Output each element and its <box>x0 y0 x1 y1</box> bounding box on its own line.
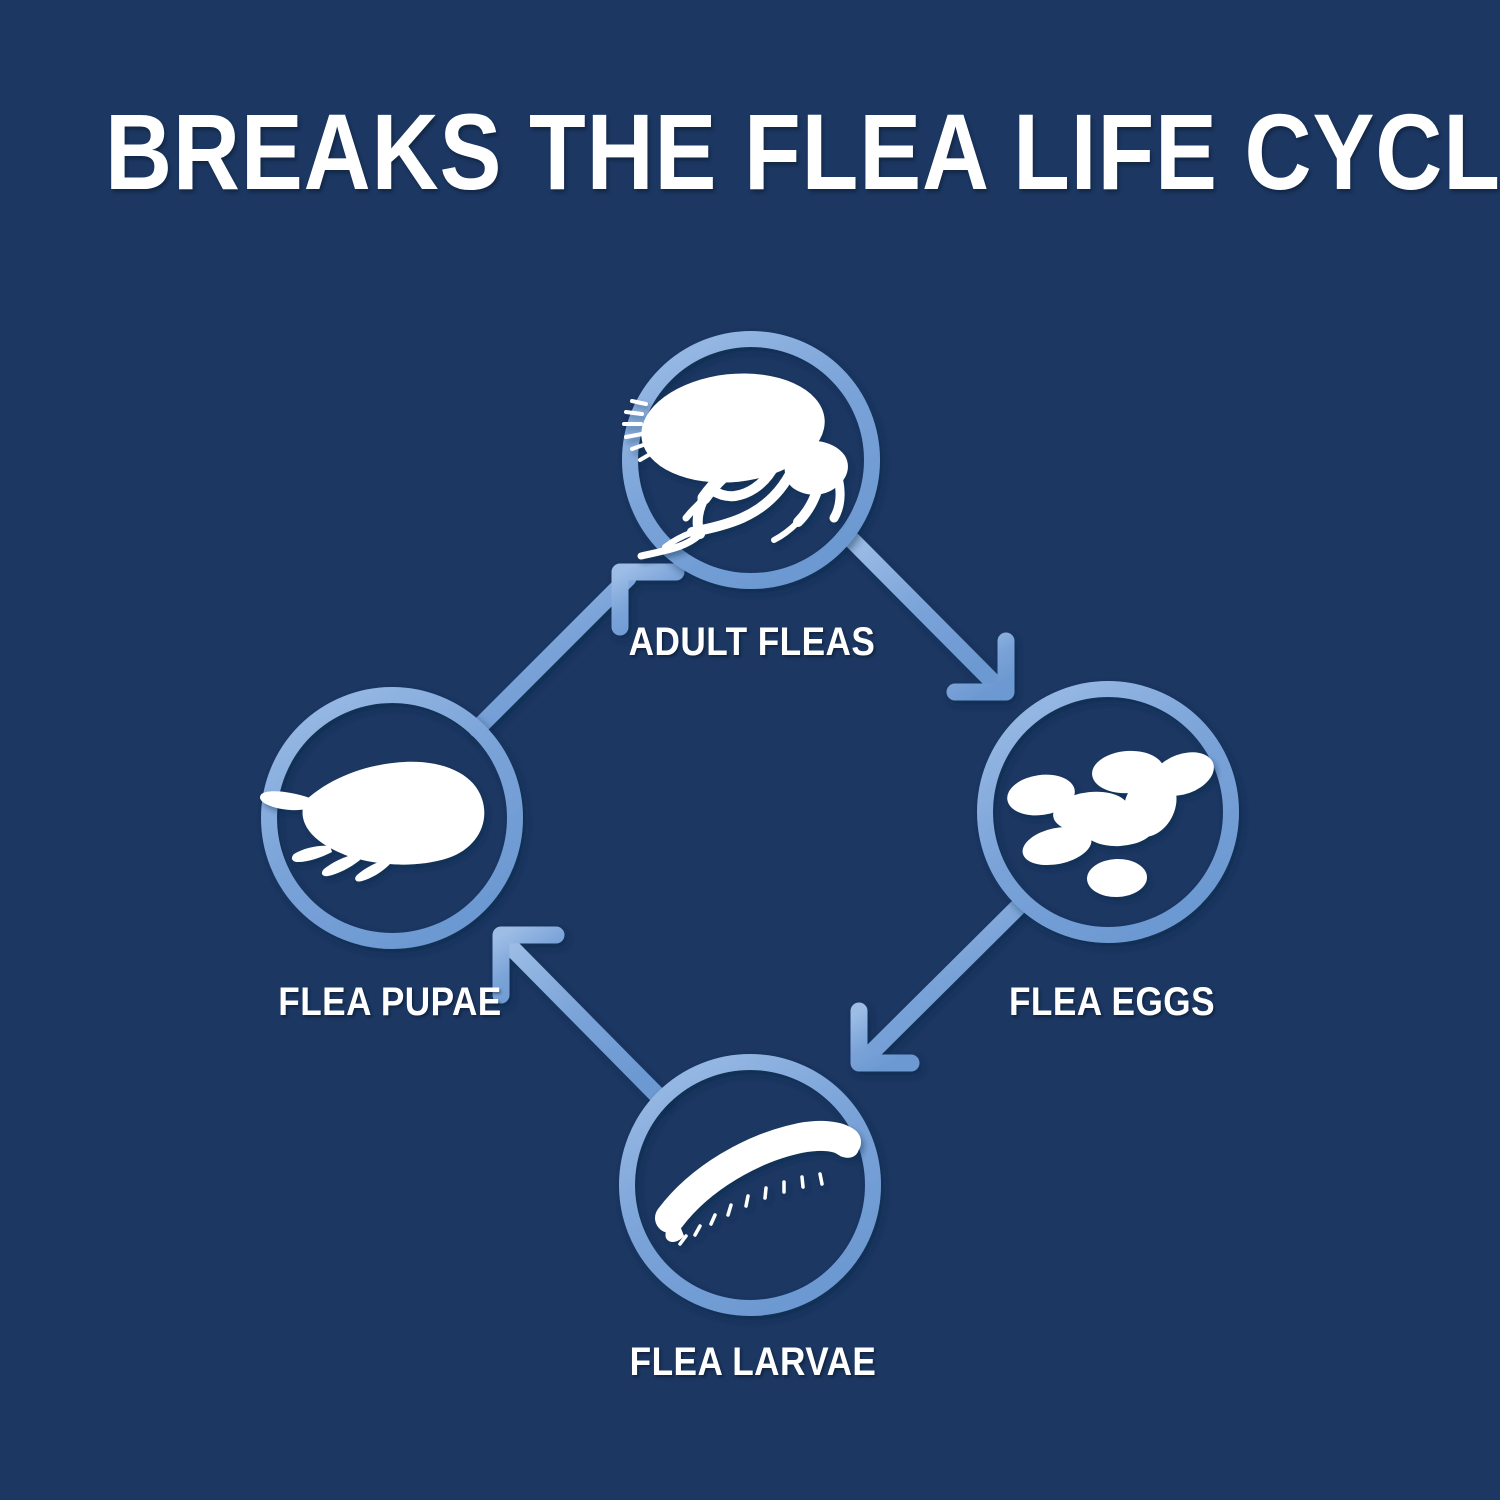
flea-life-cycle-diagram <box>0 0 1500 1500</box>
node-flea-larvae[interactable] <box>627 1062 873 1308</box>
infographic-canvas: BREAKS THE FLEA LIFE CYCLE <box>0 0 1500 1500</box>
node-label-flea-eggs: FLEA EGGS <box>1009 982 1215 1022</box>
arrow-eggs-to-larvae <box>859 905 1020 1063</box>
flea-pupa-icon <box>260 762 484 882</box>
node-flea-pupae[interactable] <box>260 695 515 941</box>
node-label-flea-pupae: FLEA PUPAE <box>278 982 501 1022</box>
flea-larva-icon <box>665 1127 859 1244</box>
node-label-adult-fleas: ADULT FLEAS <box>629 622 876 662</box>
node-label-flea-larvae: FLEA LARVAE <box>630 1342 877 1382</box>
arrow-adult-to-eggs <box>853 541 1006 692</box>
flea-larvae-ring <box>627 1062 873 1308</box>
node-adult-fleas[interactable] <box>624 339 872 581</box>
arrow-larvae-to-pupae <box>501 935 660 1098</box>
node-flea-eggs[interactable] <box>985 689 1231 935</box>
flea-eggs-icon <box>1005 744 1220 898</box>
